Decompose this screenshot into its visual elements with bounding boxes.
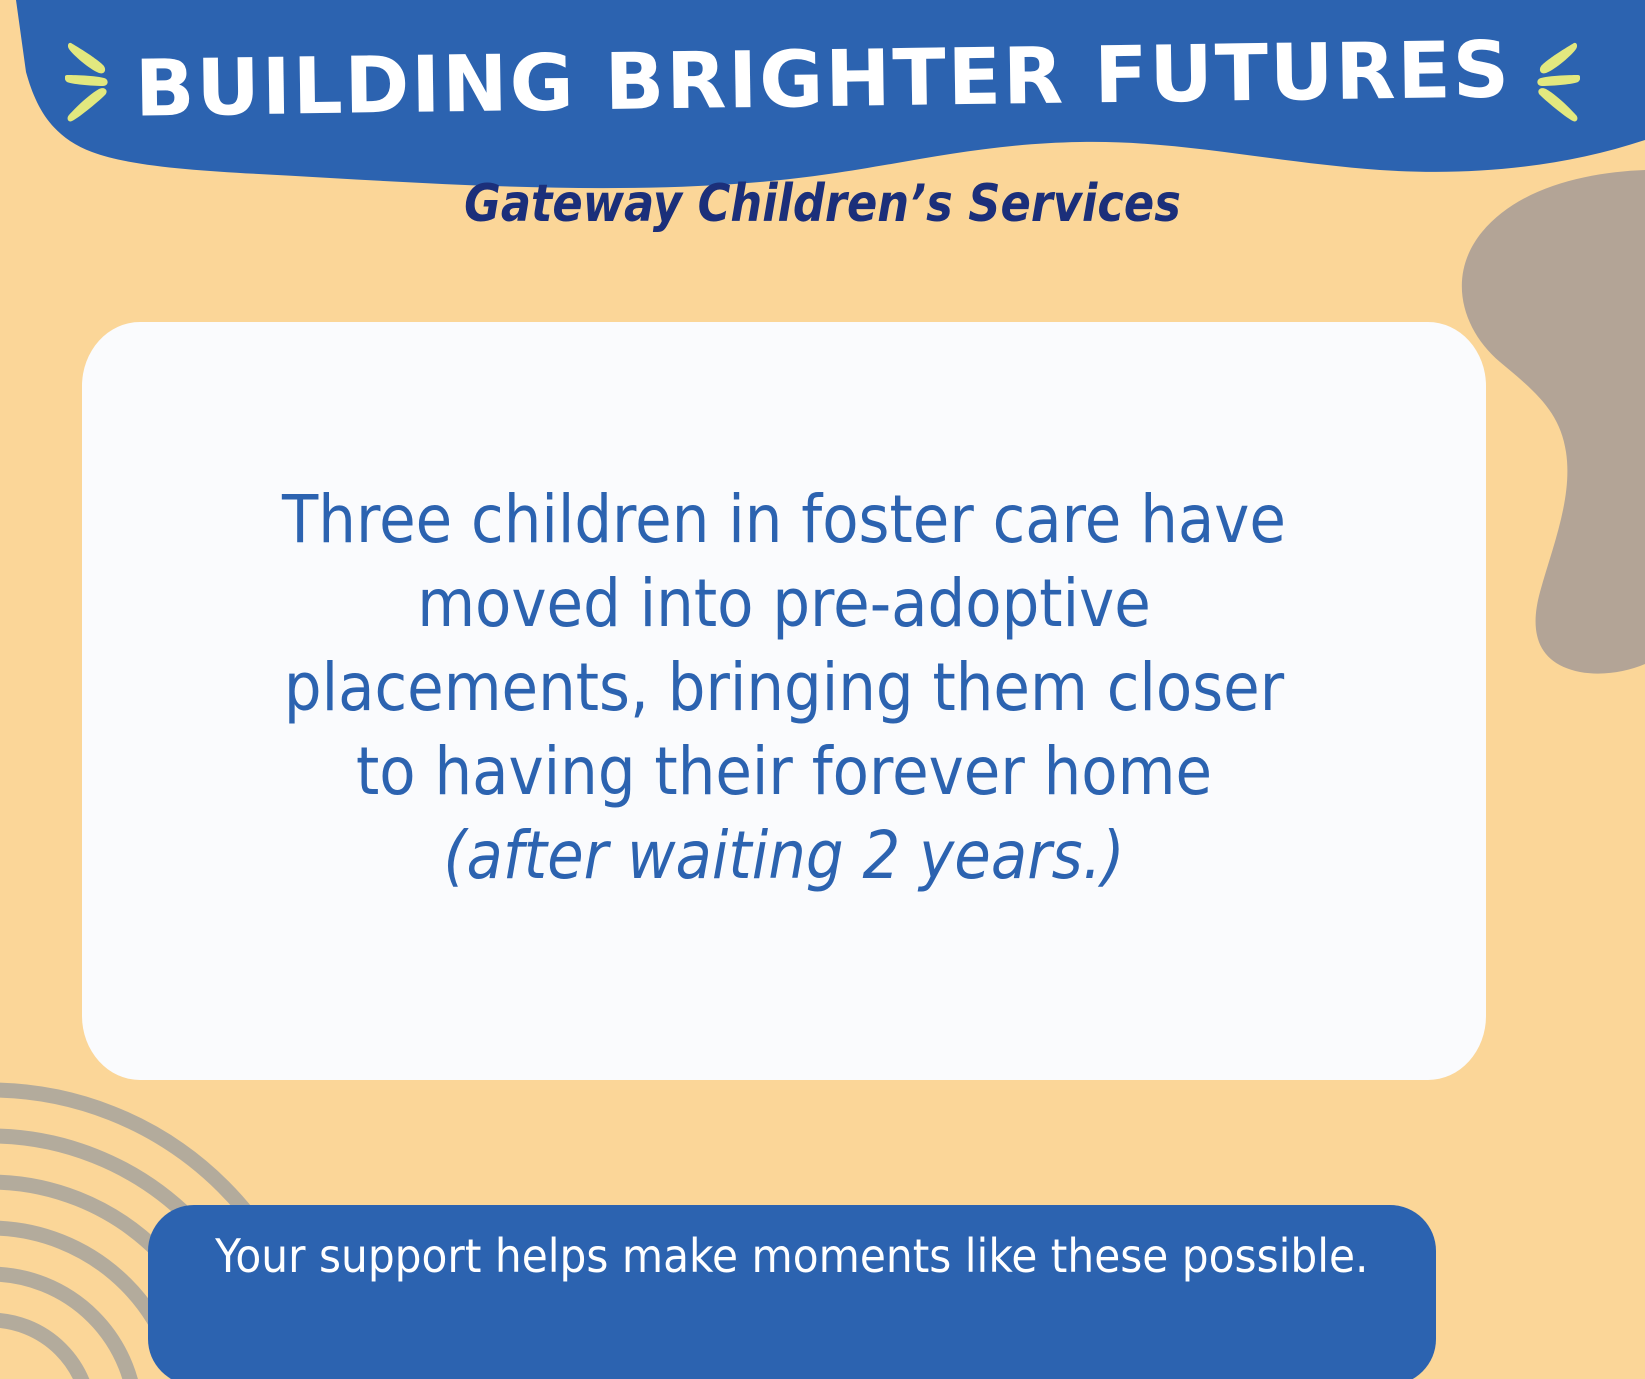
organization-subtitle: Gateway Children’s Services <box>115 176 1530 233</box>
message-line: Three children in foster care have <box>253 478 1315 562</box>
page-title: Building Brighter Futures <box>134 31 1511 128</box>
message-line: placements, bringing them closer <box>253 646 1315 730</box>
header-title-row: Building Brighter Futures <box>0 0 1645 160</box>
message-card: Three children in foster care have moved… <box>82 322 1486 1080</box>
message-parenthetical: (after waiting 2 years.) <box>253 814 1315 898</box>
sparkle-burst-icon <box>1536 37 1580 123</box>
footer-banner: Your support helps make moments like the… <box>148 1205 1436 1379</box>
sparkle-burst-icon <box>65 37 109 123</box>
footer-text: Your support helps make moments like the… <box>215 1229 1368 1284</box>
poster-canvas: Building Brighter Futures Gateway Childr… <box>0 0 1645 1379</box>
message-line: to having their forever home <box>253 730 1315 814</box>
message-card-text: Three children in foster care have moved… <box>253 478 1315 923</box>
message-line: moved into pre-adoptive <box>253 562 1315 646</box>
